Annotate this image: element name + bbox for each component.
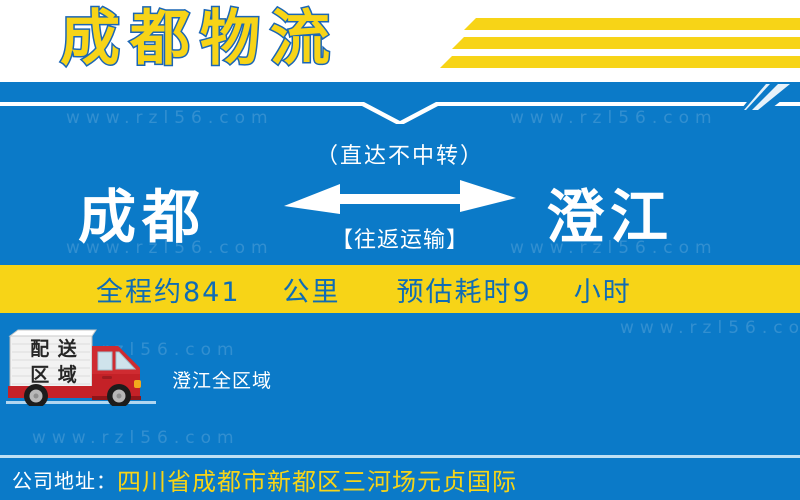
divider-rule-with-chevron [0, 84, 800, 124]
destination-city: 澄江 [546, 170, 674, 254]
page-title: 成都物流 [60, 0, 340, 80]
distance-value: 全程约841 [96, 270, 241, 309]
roundtrip-note: 【往返运输】 [290, 222, 510, 254]
chevron-down-icon [0, 102, 800, 124]
watermark: www.rzl56.com [32, 428, 240, 448]
address-value: 四川省成都市新都区三河场元贞国际 [117, 462, 517, 497]
decorative-stripes [420, 16, 800, 74]
truck-box-label: 配 送 区 域 [18, 336, 90, 388]
company-address-bar: 公司地址： 四川省成都市新都区三河场元贞国际 [0, 458, 800, 500]
truck-box-line-1: 配 送 [18, 336, 90, 362]
logistics-banner: www.rzl56.com www.rzl56.com www.rzl56.co… [0, 0, 800, 500]
duration-unit: 小时 [574, 270, 632, 309]
address-label: 公司地址： [12, 465, 117, 494]
distance-unit: 公里 [283, 270, 341, 309]
origin-city: 成都 [78, 170, 206, 254]
coverage-area-label: 澄江全区域 [172, 366, 272, 393]
watermark: www.rzl56.com [620, 318, 800, 338]
metrics-bar: 全程约841 公里 预估耗时9 小时 [0, 265, 800, 313]
truck-box-line-2: 区 域 [18, 362, 90, 388]
double-arrow-icon [284, 176, 516, 218]
direct-shipping-note: （直达不中转） [290, 138, 510, 170]
duration-value: 预估耗时9 [397, 270, 532, 309]
